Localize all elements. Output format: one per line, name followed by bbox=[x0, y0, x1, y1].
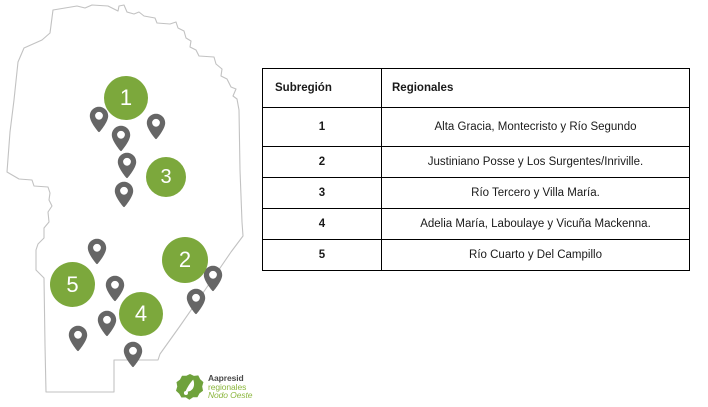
map-pin-icon bbox=[186, 288, 206, 320]
map-pin-icon bbox=[203, 265, 223, 297]
subregion-marker-5[interactable]: 5 bbox=[50, 262, 95, 307]
subregion-marker-1[interactable]: 1 bbox=[104, 76, 148, 120]
map-pin-icon bbox=[123, 341, 143, 373]
cell-regionales-text: Río Cuarto y Del Campillo bbox=[382, 240, 690, 271]
cell-regionales-text: Río Tercero y Villa María. bbox=[382, 178, 690, 209]
table-row: 5Río Cuarto y Del Campillo bbox=[263, 240, 690, 271]
cell-subregion-number: 4 bbox=[263, 209, 382, 240]
column-header-regionales: Regionales bbox=[382, 69, 690, 108]
cell-subregion-number: 2 bbox=[263, 147, 382, 178]
table-row: 4Adelia María, Laboulaye y Vicuña Macken… bbox=[263, 209, 690, 240]
cell-subregion-number: 5 bbox=[263, 240, 382, 271]
subregion-marker-3[interactable]: 3 bbox=[146, 157, 186, 197]
cell-regionales-text: Adelia María, Laboulaye y Vicuña Mackenn… bbox=[382, 209, 690, 240]
subregion-marker-4[interactable]: 4 bbox=[119, 292, 163, 336]
cell-subregion-number: 1 bbox=[263, 108, 382, 147]
map-pin-icon bbox=[89, 106, 109, 138]
aapresid-logo: Aapresid regionales Nodo Oeste bbox=[176, 372, 262, 402]
cell-subregion-number: 3 bbox=[263, 178, 382, 209]
table-row: 2Justiniano Posse y Los Surgentes/Inrivi… bbox=[263, 147, 690, 178]
subregion-marker-2[interactable]: 2 bbox=[162, 237, 208, 283]
table-row: 3Río Tercero y Villa María. bbox=[263, 178, 690, 209]
map-pin-icon bbox=[146, 113, 166, 145]
cell-regionales-text: Alta Gracia, Montecristo y Río Segundo bbox=[382, 108, 690, 147]
map-pin-icon bbox=[97, 310, 117, 342]
map-pin-icon bbox=[117, 152, 137, 184]
table-header-row: Subregión Regionales bbox=[263, 69, 690, 108]
map-panel: 13254 bbox=[0, 0, 262, 407]
map-pin-icon bbox=[114, 181, 134, 213]
subregions-table: Subregión Regionales 1Alta Gracia, Monte… bbox=[262, 68, 690, 271]
column-header-subregion: Subregión bbox=[263, 69, 382, 108]
logo-node-name: Nodo Oeste bbox=[208, 391, 252, 400]
table-row: 1Alta Gracia, Montecristo y Río Segundo bbox=[263, 108, 690, 147]
map-pin-icon bbox=[87, 238, 107, 270]
map-pin-icon bbox=[68, 325, 88, 357]
cell-regionales-text: Justiniano Posse y Los Surgentes/Inrivil… bbox=[382, 147, 690, 178]
aapresid-leaf-icon bbox=[176, 373, 204, 401]
